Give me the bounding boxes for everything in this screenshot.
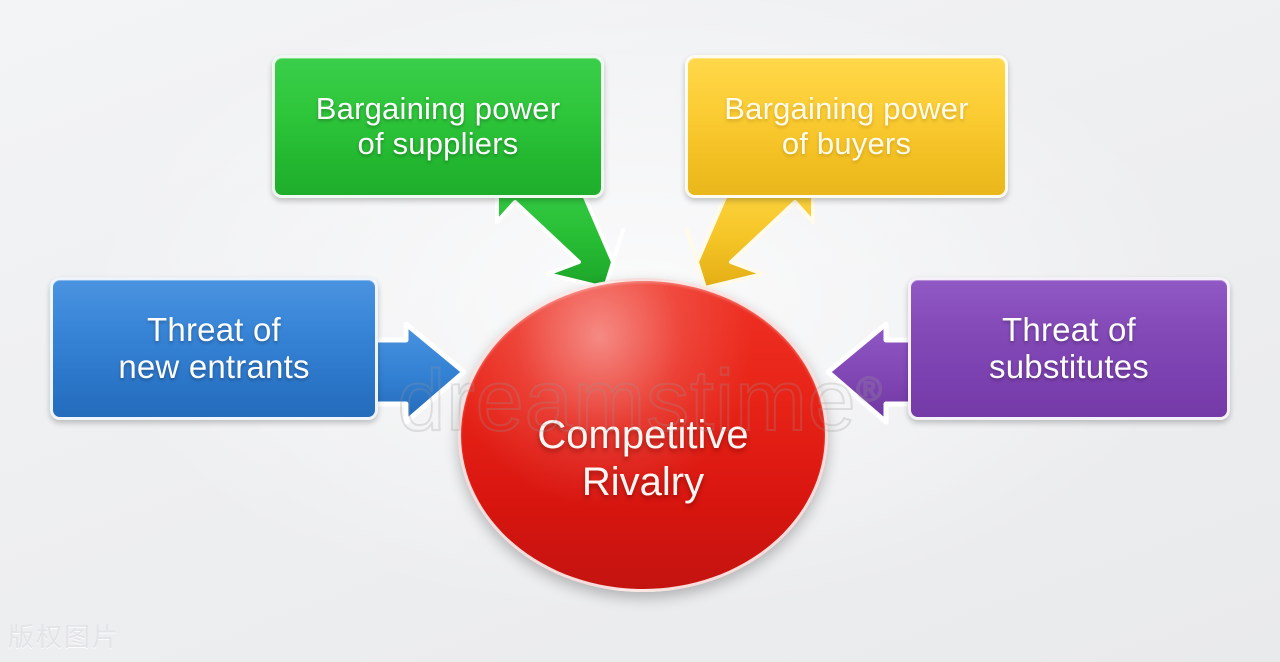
- force-label-buyers: Bargaining powerof buyers: [714, 92, 978, 161]
- watermark-chinese: 版权图片: [8, 617, 120, 654]
- force-card-bargaining-power-of-buyers[interactable]: Bargaining powerof buyers: [685, 55, 1008, 198]
- porters-five-forces-diagram: Bargaining powerof suppliers Bargaining …: [0, 0, 1280, 662]
- force-label-suppliers: Bargaining powerof suppliers: [306, 92, 570, 161]
- force-card-threat-of-new-entrants[interactable]: Threat ofnew entrants: [50, 277, 378, 420]
- center-node-competitive-rivalry[interactable]: CompetitiveRivalry: [458, 278, 828, 592]
- force-label-substitutes: Threat ofsubstitutes: [979, 312, 1159, 386]
- force-card-bargaining-power-of-suppliers[interactable]: Bargaining powerof suppliers: [272, 55, 604, 198]
- center-node-label: CompetitiveRivalry: [537, 364, 748, 506]
- force-label-new-entrants: Threat ofnew entrants: [108, 312, 319, 386]
- force-card-threat-of-substitutes[interactable]: Threat ofsubstitutes: [908, 277, 1230, 420]
